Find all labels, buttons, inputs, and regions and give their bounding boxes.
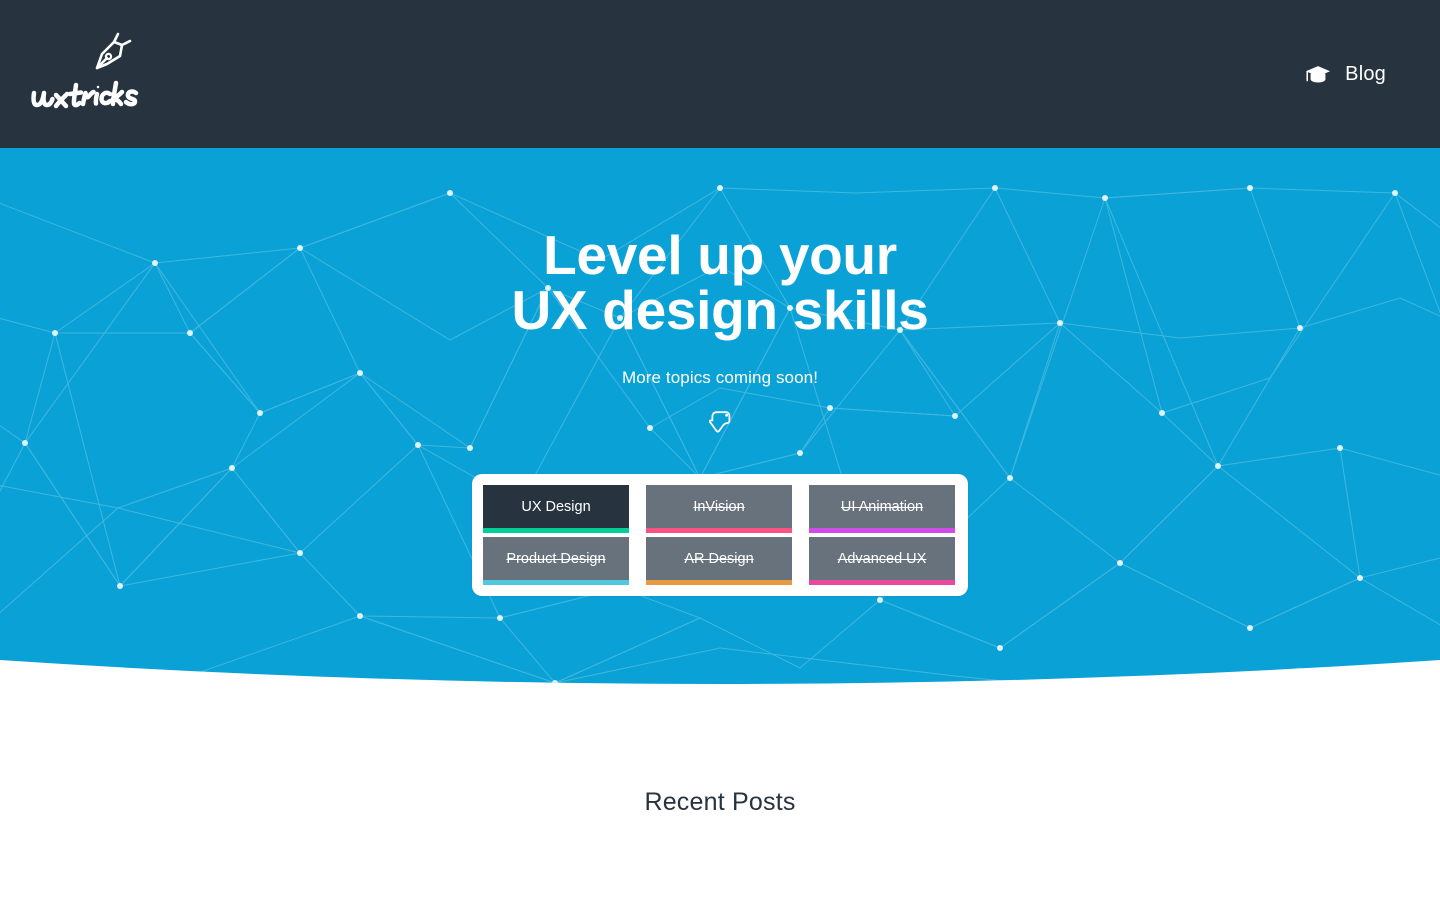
topic-card-label: Product Design <box>506 552 605 570</box>
topic-card-label: AR Design <box>684 552 753 570</box>
topic-card-label: InVision <box>693 500 744 518</box>
topic-accent-bar <box>646 580 792 585</box>
topic-card-ar-design[interactable]: AR Design <box>646 537 792 585</box>
topic-card-label: UI Animation <box>841 500 923 518</box>
pen-nib-icon <box>88 28 136 76</box>
topic-accent-bar <box>646 528 792 533</box>
site-logo[interactable] <box>30 28 150 120</box>
topic-card-product-design[interactable]: Product Design <box>483 537 629 585</box>
topic-accent-bar <box>483 528 629 533</box>
graduation-cap-icon <box>1305 65 1331 84</box>
topic-card-ui-animation[interactable]: UI Animation <box>809 485 955 533</box>
hero-content: Level up your UX design skills More topi… <box>0 148 1440 434</box>
topic-accent-bar <box>809 580 955 585</box>
site-header: Blog <box>0 0 1440 148</box>
topic-card-invision[interactable]: InVision <box>646 485 792 533</box>
topic-card-label: UX Design <box>521 500 590 518</box>
nav-item-blog-label: Blog <box>1345 63 1386 86</box>
recent-posts-section: Recent Posts <box>0 788 1440 817</box>
logo-wordmark <box>30 74 150 118</box>
topic-card-advanced-ux[interactable]: Advanced UX <box>809 537 955 585</box>
hero-subtitle: More topics coming soon! <box>0 368 1440 388</box>
hero-title-line2: UX design skills <box>0 283 1440 337</box>
hero-title-line1: Level up your <box>543 224 897 286</box>
nav-item-blog[interactable]: Blog <box>1305 63 1386 86</box>
topic-card-ux-design[interactable]: UX Design <box>483 485 629 533</box>
hero-title: Level up your UX design skills <box>0 228 1440 337</box>
topic-accent-bar <box>809 528 955 533</box>
topic-card-label: Advanced UX <box>838 552 927 570</box>
hand-pointing-down-icon <box>709 410 731 434</box>
recent-posts-title: Recent Posts <box>0 788 1440 817</box>
topic-accent-bar <box>483 580 629 585</box>
hero-section: Level up your UX design skills More topi… <box>0 148 1440 708</box>
topics-panel: UX Design InVision UI Animation Product … <box>472 474 968 596</box>
main-nav: Blog <box>1305 0 1440 148</box>
